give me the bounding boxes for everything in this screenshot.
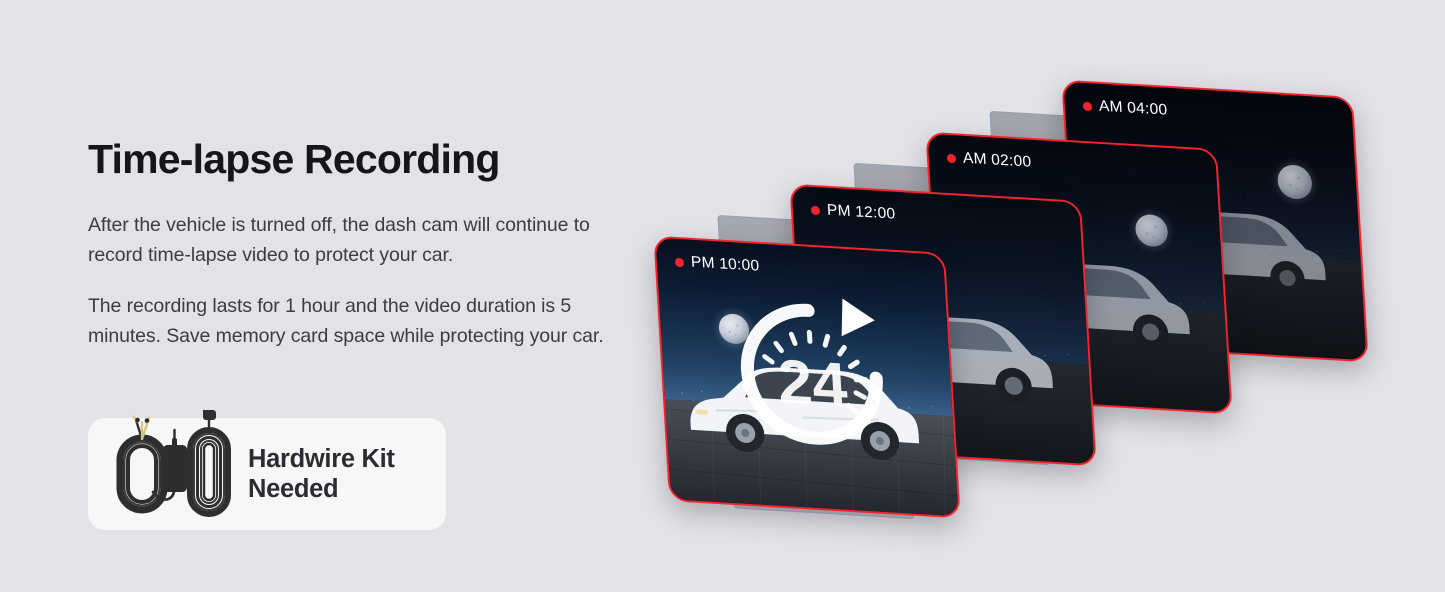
description-paragraph-1: After the vehicle is turned off, the das… (88, 211, 638, 270)
promo-banner: Time-lapse Recording After the vehicle i… (0, 0, 1445, 592)
hardwire-kit-icon (106, 408, 234, 526)
recording-dot-icon (811, 205, 821, 215)
timelapse-card-stack: AM 04:00 (600, 60, 1445, 580)
page-title: Time-lapse Recording (88, 138, 648, 181)
hardwire-kit-label: Hardwire Kit Needed (248, 444, 395, 504)
description-paragraph-2: The recording lasts for 1 hour and the v… (88, 292, 638, 351)
24h-recording-icon: 24 (720, 283, 903, 465)
badge-line-1: Hardwire Kit (248, 445, 395, 473)
timelapse-card: 24 PM 10:00 (653, 236, 960, 519)
recording-dot-icon (675, 257, 685, 267)
badge-line-2: Needed (248, 475, 338, 503)
hardwire-kit-badge: Hardwire Kit Needed (88, 418, 446, 530)
text-content: Time-lapse Recording After the vehicle i… (88, 138, 648, 352)
recording-dot-icon (1083, 101, 1093, 111)
overlay-24-label: 24 (776, 347, 850, 420)
recording-dot-icon (947, 153, 957, 163)
